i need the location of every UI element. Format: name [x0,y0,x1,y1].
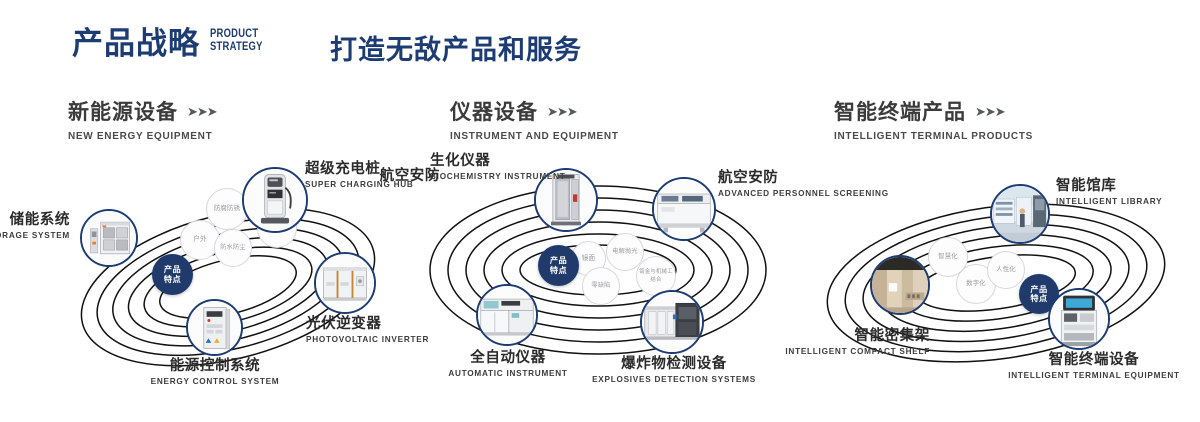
chevron-right-icon: ➤➤➤ [187,105,217,118]
feature-label: 防腐防锈 [214,205,240,213]
node-label-aviation-security: 航空安防 [340,168,440,185]
node-automatic-instrument[interactable] [476,284,538,346]
library-interior-icon [992,186,1048,242]
feature-label: 镜面 [582,255,596,263]
node-label-en: EXPLOSIVES DETECTION SYSTEMS [580,375,768,386]
compact-shelving-icon [872,257,928,313]
node-label-intelligent-terminal-equipment: 智能终端设备 INTELLIGENT TERMINAL EQUIPMENT [988,352,1200,382]
product-feature-badge: 产品 特点 [152,254,193,295]
node-explosives-detection-systems[interactable] [640,290,704,354]
node-label-cn: 能源控制系统 [100,358,330,375]
section-title-en: INTELLIGENT TERMINAL PRODUCTS [834,131,1033,142]
page-title-cn: 产品战略 [72,26,200,62]
node-advanced-personnel-screening[interactable] [652,177,716,241]
section-title-en: NEW ENERGY EQUIPMENT [68,131,217,142]
node-intelligent-compact-shelf[interactable] [870,255,930,315]
section-title-cn: 新能源设备 [68,96,178,126]
feature-label: 户外 [193,236,207,244]
page-header: 产品战略 PRODUCT STRATEGY [72,26,274,62]
section-title-cn: 智能终端产品 [834,96,966,126]
node-label-energy-control-system: 能源控制系统 ENERGY CONTROL SYSTEM [100,358,330,388]
node-intelligent-library[interactable] [990,184,1050,244]
pv-inverter-cabinet-icon [316,254,374,312]
node-label-energy-storage-system: 储能系统 ENERGY STORAGE SYSTEM [0,212,70,242]
page-title-en-line2: STRATEGY [210,41,263,54]
node-label-en: INTELLIGENT LIBRARY [1056,197,1200,208]
section-title-cn: 仪器设备 [450,96,538,126]
page-subtitle: 打造无敌产品和服务 [330,28,582,67]
node-label-cn: 智能密集架 [750,328,930,345]
poster-canvas: 产品战略 PRODUCT STRATEGY 打造无敌产品和服务 新能源设备 ➤➤… [0,0,1200,422]
detection-system-icon [642,292,702,352]
chevron-right-icon: ➤➤➤ [547,105,577,118]
page-title-en-line1: PRODUCT [210,28,263,41]
feature-label: 电解抛光 [612,248,638,256]
feature-bubble: 零缺陷 [582,267,620,305]
product-feature-badge: 产品 特点 [538,245,579,286]
node-label-automatic-instrument: 全自动仪器 AUTOMATIC INSTRUMENT [420,350,596,380]
badge-line-1: 产品 [550,256,567,266]
feature-label: 防水防尘 [220,244,246,252]
feature-label: 智慧化 [938,253,958,261]
node-energy-storage-system[interactable] [80,209,138,267]
node-label-cn: 生化仪器 [430,153,550,170]
node-label-cn: 智能馆库 [1056,178,1200,195]
node-label-cn: 全自动仪器 [420,350,596,367]
node-photovoltaic-inverter[interactable] [314,252,376,314]
energy-storage-cabinet-icon [82,211,136,265]
cluster-new-energy: 户外 防水防尘 防腐防锈 气密性 产品 特点 [0,150,400,410]
feature-label: 数字化 [966,280,986,288]
cluster-instruments: 镜面 电解抛光 钣金与机械工结合 零缺陷 产品 特点 [400,150,800,410]
node-label-en: ENERGY CONTROL SYSTEM [100,377,330,388]
feature-bubble: 人性化 [987,251,1025,289]
node-super-charging-hub[interactable] [242,167,308,233]
section-title-intelligent-terminal: 智能终端产品 ➤➤➤ INTELLIGENT TERMINAL PRODUCTS [834,96,1033,142]
node-label-en: BIOCHEMISTRY INSTRUMENT [430,172,550,183]
node-intelligent-terminal-equipment[interactable] [1048,288,1110,350]
node-label-cn: 爆炸物检测设备 [580,356,768,373]
feature-label: 零缺陷 [591,282,610,290]
node-label-en: AUTOMATIC INSTRUMENT [420,369,596,380]
node-label-cn: 储能系统 [0,212,70,229]
badge-line-1: 产品 [164,265,181,275]
badge-line-2: 特点 [1030,294,1047,304]
badge-line-1: 产品 [1030,285,1047,295]
ev-charging-pile-icon [244,169,306,231]
node-label-en: ENERGY STORAGE SYSTEM [0,231,70,242]
page-title-en: PRODUCT STRATEGY [210,28,263,53]
node-label-en: INTELLIGENT TERMINAL EQUIPMENT [988,371,1200,382]
section-title-instruments: 仪器设备 ➤➤➤ INSTRUMENT AND EQUIPMENT [450,96,619,142]
node-label-intelligent-library: 智能馆库 INTELLIGENT LIBRARY [1056,178,1200,208]
node-label-explosives-detection-systems: 爆炸物检测设备 EXPLOSIVES DETECTION SYSTEMS [580,356,768,386]
badge-line-2: 特点 [550,266,567,276]
feature-label: 人性化 [996,266,1016,274]
feature-label: 钣金与机械工结合 [637,268,675,284]
chevron-right-icon: ➤➤➤ [975,105,1005,118]
feature-bubble: 防水防尘 [214,229,252,267]
node-label-biochemistry-instrument: 生化仪器 BIOCHEMISTRY INSTRUMENT [430,153,550,183]
automatic-analyzer-icon [478,286,536,344]
node-energy-control-system[interactable] [186,299,243,356]
node-label-cn: 航空安防 [340,168,440,185]
node-label-intelligent-compact-shelf: 智能密集架 INTELLIGENT COMPACT SHELF [750,328,930,358]
cluster-intelligent-terminal: 智慧化 数字化 人性化 产品 特点 [800,150,1200,410]
badge-line-2: 特点 [164,275,181,285]
screening-machine-icon [654,179,714,239]
section-title-en: INSTRUMENT AND EQUIPMENT [450,131,619,142]
control-cabinet-icon [188,301,241,354]
self-service-kiosk-icon [1050,290,1108,348]
node-label-en: INTELLIGENT COMPACT SHELF [750,347,930,358]
node-label-cn: 智能终端设备 [988,352,1200,369]
section-title-new-energy: 新能源设备 ➤➤➤ NEW ENERGY EQUIPMENT [68,96,217,142]
